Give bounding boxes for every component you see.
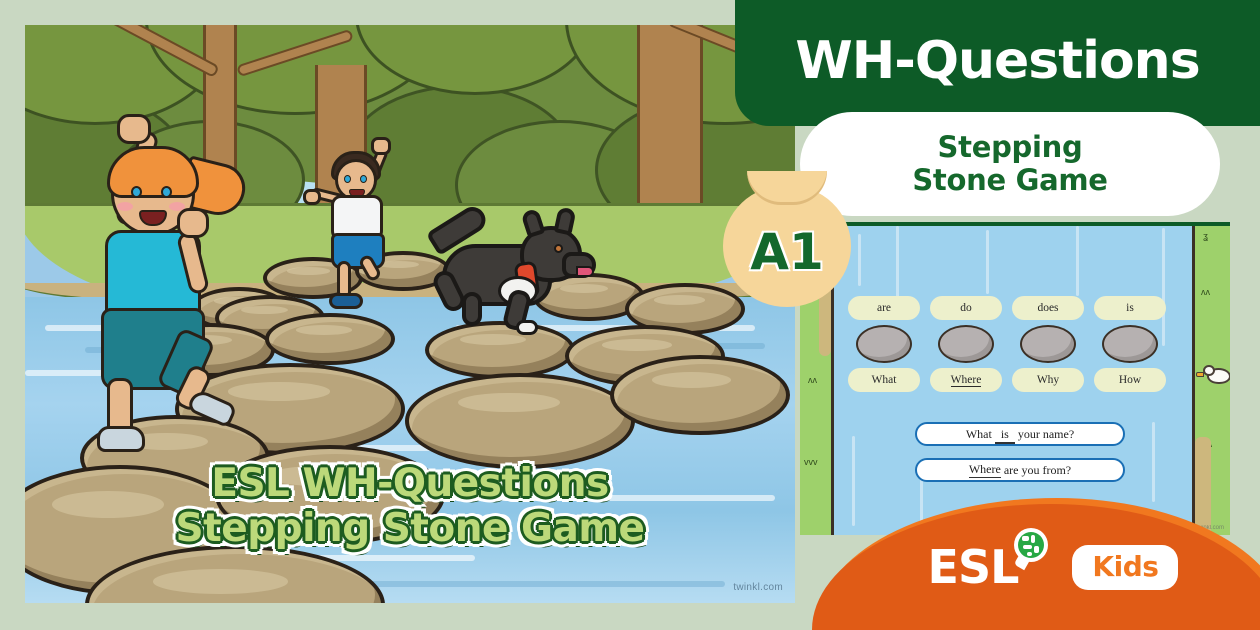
water-highlight [325, 581, 725, 587]
river-bank-right: ʓ ʌʌ ʌʌ [1192, 226, 1230, 535]
girl-hair [107, 146, 199, 198]
duck-icon [1207, 368, 1230, 384]
dog-tongue [576, 266, 594, 277]
word-column: do Where [930, 296, 1002, 392]
subtitle-line-1: Stepping [938, 131, 1083, 164]
answer-sentence-strip[interactable]: What is your name? [915, 422, 1125, 446]
question-word-card[interactable]: How [1094, 368, 1166, 392]
helper-word-card[interactable]: does [1012, 296, 1084, 320]
worksheet-preview[interactable]: ʌʌ vvv ʓ ʌʌ ʌʌ are What [800, 222, 1230, 535]
level-badge: A1 [723, 185, 851, 307]
girl-fist [177, 208, 209, 238]
girl-shoe-back [186, 388, 238, 429]
question-word-card[interactable]: Where [930, 368, 1002, 392]
stepping-stone [610, 355, 790, 435]
girl-fist-raised [117, 114, 151, 144]
grass-tuft: ʌʌ [808, 376, 817, 385]
girl-character [55, 120, 265, 460]
worksheet-stone[interactable] [856, 325, 912, 363]
grass-tuft: ʓ [1203, 232, 1208, 241]
header-banner: WH-Questions [735, 0, 1260, 126]
helper-word-card[interactable]: are [848, 296, 920, 320]
sand-strip [1195, 437, 1211, 535]
word-column: are What [848, 296, 920, 392]
duck-beak [1196, 372, 1204, 377]
boy-hand-up [371, 137, 391, 155]
water-line [986, 230, 989, 294]
water-line [1152, 422, 1155, 502]
illustration-title-line2: Stepping Stone Game [25, 506, 795, 551]
dog-ear-right [553, 206, 576, 235]
answer-blank[interactable]: is [995, 427, 1015, 442]
water-line [858, 234, 861, 286]
brand-name: ESL [928, 540, 1019, 594]
dog-eye [554, 244, 563, 253]
dog-ear-left [520, 208, 545, 238]
girl-shoe-front [97, 426, 145, 452]
answer-suffix: are you from? [1004, 463, 1071, 478]
globe-speech-bubble-icon [1014, 528, 1048, 562]
cover-illustration: ESL WH-Questions Stepping Stone Game twi… [25, 25, 795, 603]
brand-logo[interactable]: ESL Kids [818, 540, 1260, 594]
boy-character [315, 145, 425, 305]
word-column: does Why [1012, 296, 1084, 392]
worksheet-stone[interactable] [938, 325, 994, 363]
worksheet-stone[interactable] [1020, 325, 1076, 363]
stepping-stone [265, 313, 395, 365]
question-word-card[interactable]: Why [1012, 368, 1084, 392]
stepping-stone [405, 373, 635, 469]
level-badge-label: A1 [723, 185, 851, 307]
dog-leg-mid [462, 292, 482, 326]
duck-head [1203, 365, 1215, 376]
poster-canvas: ESL WH-Questions Stepping Stone Game twi… [0, 0, 1260, 630]
page-title: WH-Questions [795, 31, 1199, 95]
boy-hand-side [303, 189, 321, 205]
illustration-title: ESL WH-Questions Stepping Stone Game [25, 461, 795, 551]
water-line [896, 226, 899, 304]
boy-eye-left [344, 175, 351, 183]
globe-icon [1018, 532, 1044, 558]
subtitle-line-2: Stone Game [912, 164, 1107, 197]
answer-blank[interactable]: Where [969, 462, 1001, 478]
twinkl-watermark: twinkl.com [733, 582, 783, 593]
boy-eye-right [360, 175, 367, 183]
question-word-card[interactable]: What [848, 368, 920, 392]
girl-eye-right [161, 186, 172, 198]
boy-shoe [329, 293, 363, 309]
helper-word-card[interactable]: do [930, 296, 1002, 320]
grass-tuft: vvv [804, 458, 818, 467]
answer-sentence-strip[interactable]: Where are you from? [915, 458, 1125, 482]
word-column: is How [1094, 296, 1166, 392]
dog-paw [516, 320, 538, 335]
helper-word-card[interactable]: is [1094, 296, 1166, 320]
girl-eye-left [131, 186, 142, 198]
answer-suffix: your name? [1018, 427, 1074, 442]
subtitle-card: Stepping Stone Game [800, 112, 1220, 216]
water-line [1076, 226, 1079, 296]
kids-pill-label: Kids [1072, 545, 1178, 590]
worksheet-stone[interactable] [1102, 325, 1158, 363]
water-line [852, 436, 855, 526]
grass-tuft: ʌʌ [1201, 288, 1210, 297]
dog-character [420, 200, 600, 335]
answer-prefix: What [966, 427, 992, 442]
illustration-title-line1: ESL WH-Questions [25, 461, 795, 506]
girl-cheek-left [117, 202, 133, 211]
